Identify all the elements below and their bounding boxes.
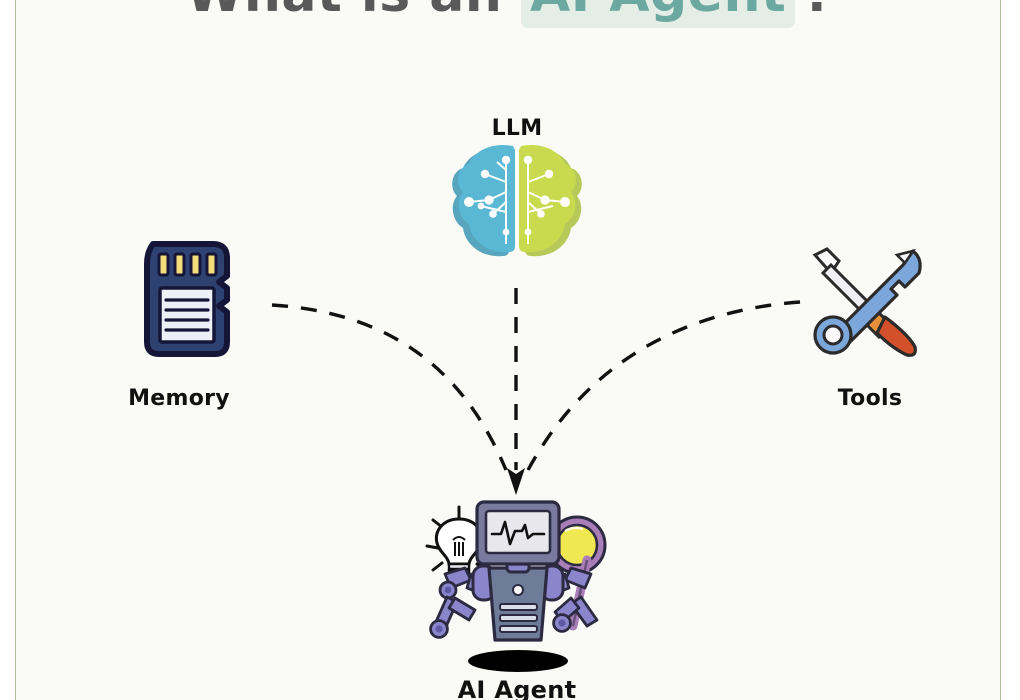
page-title: What is an AI Agent? xyxy=(0,0,1020,24)
sd-card-icon xyxy=(139,238,239,360)
label-llm: LLM xyxy=(437,116,597,141)
robot-torso-stripes xyxy=(500,604,537,632)
page-title-prefix: What is an xyxy=(186,0,502,24)
slide-canvas: What is an AI Agent? xyxy=(0,0,1020,700)
sd-card-document xyxy=(160,288,214,342)
page-title-question-mark: ? xyxy=(803,0,834,24)
brain-icon xyxy=(451,140,583,260)
robot-shadow xyxy=(468,650,568,672)
label-memory: Memory xyxy=(99,386,259,411)
page-title-accent: AI Agent xyxy=(521,0,795,28)
robot-torso-button xyxy=(513,585,523,595)
label-tools: Tools xyxy=(790,386,950,411)
robot-icon xyxy=(415,498,620,678)
wrench-screwdriver-icon xyxy=(805,245,931,361)
label-ai-agent: AI Agent xyxy=(437,676,597,700)
